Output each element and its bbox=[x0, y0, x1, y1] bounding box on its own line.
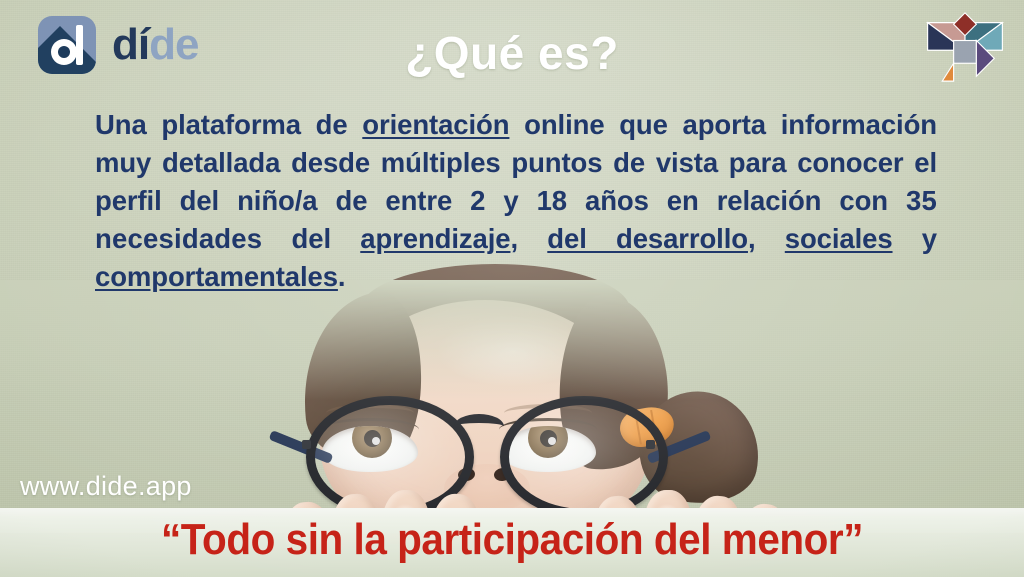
body-seg-10: y bbox=[893, 223, 937, 254]
logo-d-stem bbox=[76, 25, 83, 65]
body-seg-8: , bbox=[748, 223, 785, 254]
body-paragraph: Una plataforma de orientación online que… bbox=[95, 106, 937, 296]
body-link-aprendizaje[interactable]: aprendizaje bbox=[360, 223, 510, 254]
body-link-del-desarrollo[interactable]: del desarrollo bbox=[547, 223, 748, 254]
body-seg-0: Una plataforma de bbox=[95, 109, 362, 140]
page-title: ¿Qué es? bbox=[0, 26, 1024, 80]
logo-d-bowl bbox=[51, 39, 77, 65]
glasses-hinge-left bbox=[302, 440, 311, 449]
bottom-tagline: “Todo sin la participación del menor” bbox=[41, 515, 983, 565]
website-url[interactable]: www.dide.app bbox=[20, 471, 192, 502]
slide-canvas: díde ¿Qué es? Una plataforma de orientac… bbox=[0, 0, 1024, 577]
logo-letter-d bbox=[51, 25, 83, 65]
body-seg-4: del bbox=[262, 223, 360, 254]
body-link-orientacion[interactable]: orientación bbox=[362, 109, 509, 140]
glasses-hinge-right bbox=[646, 440, 655, 449]
body-seg-6: , bbox=[510, 223, 547, 254]
body-link-sociales[interactable]: sociales bbox=[785, 223, 893, 254]
body-seg-12: . bbox=[338, 261, 346, 292]
glasses-bridge bbox=[454, 414, 504, 439]
body-link-comportamentales[interactable]: comportamentales bbox=[95, 261, 338, 292]
